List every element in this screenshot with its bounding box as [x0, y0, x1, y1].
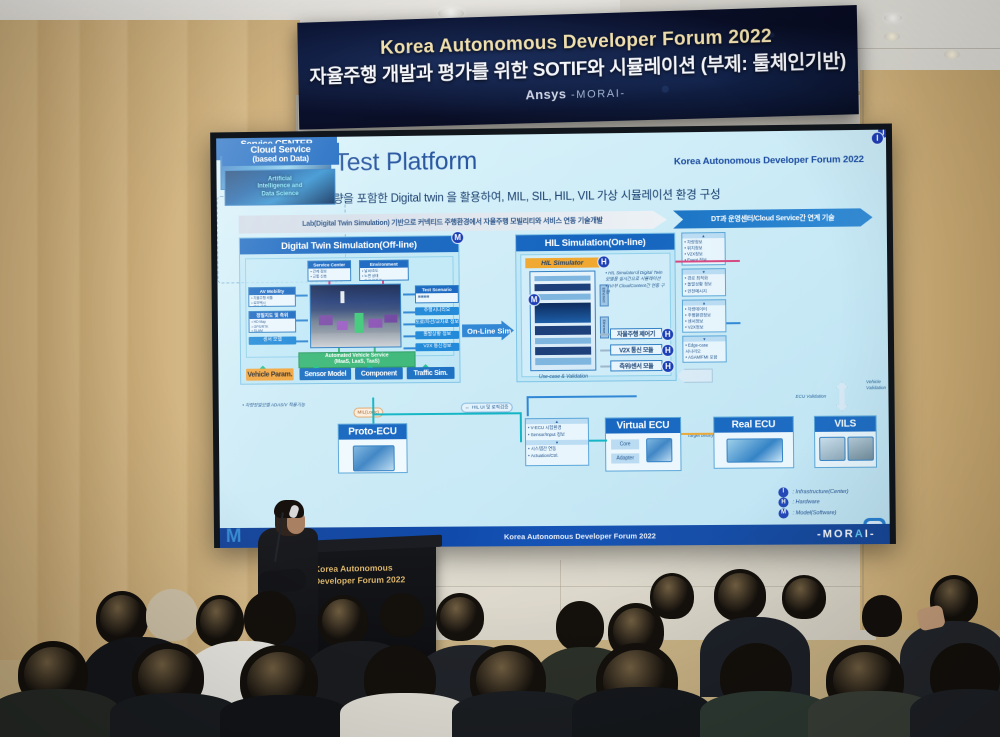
audience-shoulders [910, 689, 1000, 737]
connector [520, 412, 522, 442]
block-sensor-model: Sensor Model [299, 368, 351, 380]
virtual-ecu-image [646, 438, 672, 462]
hil-simulator-label: HIL Simulator [525, 257, 599, 268]
connector [372, 412, 521, 415]
banner-logos: Ansys -MORAI- [299, 78, 859, 109]
badge-hardware-sensor: H [661, 360, 674, 373]
pill-v2x-info: V2X 통신정보 [415, 343, 459, 351]
road-surface [311, 332, 401, 348]
real-ecu-body [714, 432, 793, 468]
pill-road-info: 도로/차선/교차로 정보 [415, 319, 459, 327]
pill-incident-info: 돌발상황 정보 [415, 331, 459, 339]
pill-sensor-model: 센서 모델 [249, 336, 297, 344]
ethernet-port-lower: Ethernet [600, 316, 609, 338]
minibox-av-mobility: AV Mobility • 자율주행 셔틀 • 로보택시 • 배송 로봇 • 개… [248, 287, 296, 307]
connector [589, 440, 607, 442]
connector [403, 323, 415, 325]
ansys-logo: Ansys [525, 86, 566, 102]
virtual-ecu-core: Core [611, 439, 639, 449]
rack-unit [535, 284, 591, 292]
connector [527, 395, 637, 398]
block-vehicle-param: Vehicle Param. [246, 368, 294, 380]
pill-scenario-fallback: 주행시나리오(Fallback) [415, 307, 459, 315]
virtual-ecu-box: Virtual ECU Core Adapter [605, 417, 682, 472]
badge-model-dt: M [451, 231, 464, 244]
connector [527, 396, 529, 416]
vehicle-shape [368, 319, 382, 328]
hil-rack-image: Use-case & Validation [529, 271, 596, 372]
proto-ecu-box: Proto-ECU [338, 423, 408, 473]
legend-text-h: : Hardware [792, 497, 819, 508]
pole [340, 291, 344, 303]
minibox-lines: • 날씨/조도 • 노면 상태 • 도로 인프라 • Driving Routi… [360, 268, 408, 281]
block-traffic-sim: Traffic Sim. [407, 367, 455, 379]
connector [403, 311, 415, 313]
connector [374, 348, 376, 352]
minibox-title: Service Center [308, 261, 350, 268]
audience-head-grey-hair [146, 589, 198, 641]
badge-infrastructure-cloud: I [871, 132, 884, 145]
downlight [884, 32, 900, 41]
infobox-lines: • Edge-case 시나리오 • ASAM/FMI 포함 [685, 342, 723, 361]
connector [403, 293, 415, 295]
infobox-direction: ▼ [683, 336, 725, 341]
ecu-validation-tag: ECU Validation [796, 394, 827, 400]
cloud-service-header: Cloud Service (based on Data) [222, 143, 339, 166]
audience-shoulders [452, 691, 588, 737]
legend-text-m: : Model(Software) [793, 508, 837, 519]
rack-unit [535, 358, 591, 366]
connector [600, 349, 610, 351]
audience-head [244, 591, 296, 645]
minibox-grid: ▦▦▦▦ [416, 293, 458, 299]
connector [600, 333, 610, 335]
connector [296, 295, 308, 297]
rack-unit [535, 338, 591, 345]
slide-footer-text: Korea Autonomous Developer Forum 2022 [504, 531, 656, 541]
hil-header: HIL Simulation(On-line) [516, 234, 674, 252]
digital-twin-header: Digital Twin Simulation(Off-line) [240, 236, 459, 254]
proto-ecu-image [353, 445, 395, 471]
rack-unit [535, 347, 591, 356]
slide-forum-label: Korea Autonomous Developer Forum 2022 [674, 154, 864, 167]
badge-hardware-v2x: H [661, 344, 674, 357]
infobox-route-opt: ▼ • 경로 최적화 • 돌발상황 정보 • 안전메시지 [682, 268, 726, 296]
infobox-direction: ▼ [683, 270, 725, 275]
chevron-lab-scope: Lab(Digital Twin Simulation) 기반으로 커넥티드 주… [239, 211, 668, 234]
digital-twin-panel: Digital Twin Simulation(Off-line) M Serv… [239, 235, 461, 385]
real-ecu-header: Real ECU [714, 417, 793, 433]
connector [372, 398, 374, 424]
real-ecu-image [726, 438, 783, 463]
vecu-io-column: ▲ • V-ECU 시험환경 • Sensor/Input 정보 ▼ • 시스템… [525, 418, 589, 467]
digital-twin-scene-image [310, 284, 402, 349]
hil-bullet-list: • HIL Simulator내 Digital Twin 모델을 실시간으로 … [605, 270, 666, 296]
vecu-up-lines: • V-ECU 시험환경 • Sensor/Input 정보 [528, 425, 586, 439]
audience-head [782, 575, 826, 619]
legend-text-i: : Infrastructure(Center) [792, 487, 848, 498]
block-component: Component [355, 367, 403, 379]
ceiling-light [884, 14, 902, 22]
audience-head [380, 593, 424, 637]
rack-unit [535, 294, 591, 301]
ecu-validation-arrow [836, 381, 848, 411]
legend-badge-h: H [778, 498, 788, 508]
presentation-slide: Virtual Test Platform Korea Autonomous D… [216, 130, 890, 548]
online-sim-arrow: On-Line Sim. [462, 320, 514, 340]
connector-to-cloud [726, 322, 740, 324]
hw-box-sensor-module: 측위/센서 모듈 [610, 360, 662, 371]
legend-row-hardware: H : Hardware [778, 497, 875, 508]
connector [404, 347, 416, 349]
audience-head [196, 595, 244, 647]
virtual-ecu-header: Virtual ECU [606, 418, 680, 434]
minibox-environment: Environment • 날씨/조도 • 노면 상태 • 도로 인프라 • D… [359, 260, 409, 281]
audience-shoulders [0, 689, 120, 737]
minibox-lines: • 관제 정보 • 교통 신호 [308, 268, 350, 280]
audience-head [436, 593, 484, 641]
infobox-direction: ▲ [682, 233, 724, 238]
projection-screen: Virtual Test Platform Korea Autonomous D… [210, 123, 896, 548]
audience [0, 567, 1000, 737]
audience-shoulders [220, 695, 350, 737]
rack-unit [534, 276, 590, 282]
vehicle-shape [354, 313, 363, 333]
connector [296, 340, 308, 342]
banner-korean-title: 자율주행 개발과 평가를 위한 SOTIF와 시뮬레이션 (부제: 툴체인기반) [298, 45, 858, 89]
hil-inner: HIL Simulator H Use-case & Validation M … [520, 253, 671, 378]
downlight [944, 50, 960, 59]
hil-bullet: • HIL Simulator내 Digital Twin 모델을 실시간으로 … [605, 270, 666, 283]
chevron-dt-cloud-scope: DT과 운영센터/Cloud Service간 연계 기술 [673, 208, 873, 228]
connector [403, 335, 415, 337]
audience-head [318, 595, 368, 647]
vils-image-right [847, 436, 874, 460]
slide-footer-brand: -MORAI- [817, 528, 876, 540]
vehicle-validation-tag: Vehicle Validation [866, 379, 888, 391]
vils-header: VILS [815, 416, 876, 432]
digital-twin-bottom-blocks: Vehicle Param. Sensor Model Component Tr… [246, 367, 455, 381]
connector [296, 319, 308, 321]
legend-row-infrastructure: I : Infrastructure(Center) [778, 486, 875, 497]
digital-twin-inner: Service Center • 관제 정보 • 교통 신호 Environme… [245, 256, 454, 358]
adas-note: • 차량정밀모델 ADAS/V 적용가능 [242, 402, 305, 408]
banner-english-title: Korea Autonomous Developer Forum 2022 [298, 23, 858, 62]
real-ecu-box: Real ECU [713, 416, 794, 469]
slide-bullet-text: •도로-인프라-차량을 포함한 Digital twin 을 활용하여, MIL… [252, 184, 866, 207]
virtual-ecu-body: Core Adapter [606, 433, 681, 471]
hil-ui-tag: ↔ HIL UI 및 로직검증 [461, 402, 513, 412]
audience-head [556, 601, 604, 651]
vils-box: VILS [814, 415, 877, 468]
event-banner: Korea Autonomous Developer Forum 2022 자율… [297, 5, 859, 130]
minibox-lines: • HD Map • GPS/RTK • SLAM [249, 319, 295, 333]
hil-bullet: • IVI부 CloudContent간 연동 구현 [606, 283, 667, 296]
badge-hardware-av: H [661, 328, 674, 341]
legend-badge-i: I [778, 487, 788, 497]
minibox-lines: • 자율주행 셔틀 • 로보택시 • 배송 로봇 • 개인형 이동수단 [249, 295, 295, 307]
hil-rack-caption: Use-case & Validation [531, 374, 595, 381]
connector [681, 433, 713, 435]
vils-body [815, 431, 876, 467]
infobox-edgecase: ▼ • Edge-case 시나리오 • ASAM/FMI 포함 [682, 335, 726, 363]
vecu-down-lines: • 시스템간 연동 • Actuation/Ctrl. [528, 446, 586, 460]
audience-head [714, 569, 766, 621]
minibox-hd-map: 정밀지도 및 측위 • HD Map • GPS/RTK • SLAM [248, 311, 296, 333]
legend-badge-m: M [778, 508, 788, 518]
vehicle-shape [319, 315, 333, 325]
minibox-title: Test Scenario [416, 286, 458, 293]
virtual-ecu-adapter: Adapter [611, 453, 639, 463]
infobox-vehicle-sensordata: ▲ • 차량데이터 • 주행환경정보 • 센서정보 • V2X정보 [682, 299, 727, 333]
cloud-service-subtitle: (based on Data) [252, 155, 309, 164]
audience-shoulders [572, 687, 712, 737]
vehicle-shape [384, 315, 397, 323]
badge-hardware-hilsim: H [597, 255, 610, 268]
vecu-down-direction: ▼ [526, 440, 588, 445]
infobox-lines: • 차량데이터 • 주행환경정보 • 센서정보 • V2X정보 [685, 306, 723, 331]
audience-head [862, 595, 902, 637]
morai-logo: -MORAI- [571, 88, 626, 102]
conference-room-scene: Korea Autonomous Developer Forum 2022 자율… [0, 0, 1000, 737]
vecu-up-direction: ▲ [526, 419, 588, 425]
hil-simulation-panel: HIL Simulation(On-line) HIL Simulator H … [515, 233, 677, 383]
rack-unit [535, 326, 591, 336]
ai-data-science-caption: Artificial Intelligence and Data Science [225, 170, 334, 205]
hw-box-av-controller: 자율주행 제어기 [610, 328, 662, 340]
proto-ecu-header: Proto-ECU [339, 424, 407, 439]
connector [338, 348, 340, 352]
vils-image-left [819, 437, 845, 461]
infobox-direction: ▲ [683, 300, 725, 305]
feedback-arrow [677, 369, 713, 383]
badge-model-rack: M [528, 293, 541, 306]
legend: I : Infrastructure(Center) H : Hardware … [778, 486, 875, 518]
minibox-test-scenario: Test Scenario ▦▦▦▦ [415, 285, 459, 303]
connector [600, 365, 610, 367]
proto-ecu-body [339, 439, 407, 472]
rack-display [535, 303, 591, 324]
cloud-service-image: Artificial Intelligence and Data Science [224, 169, 335, 206]
vehicle-shape [337, 321, 348, 330]
infobox-lines: • 경로 최적화 • 돌발상황 정보 • 안전메시지 [685, 276, 723, 295]
hw-box-v2x-module: V2X 통신 모듈 [610, 344, 662, 356]
legend-row-model: M : Model(Software) [778, 507, 875, 518]
minibox-service-center: Service Center • 관제 정보 • 교통 신호 [307, 260, 351, 281]
avs-text: Automated Vehicle Service (MaaS, LaaS, T… [325, 354, 389, 366]
info-column-upstream: ▲ • 차량정보 • 위치정보 • V2X정보 • Event 정보 ▼ • 경… [681, 232, 727, 366]
audience-shoulders-white [340, 693, 470, 737]
